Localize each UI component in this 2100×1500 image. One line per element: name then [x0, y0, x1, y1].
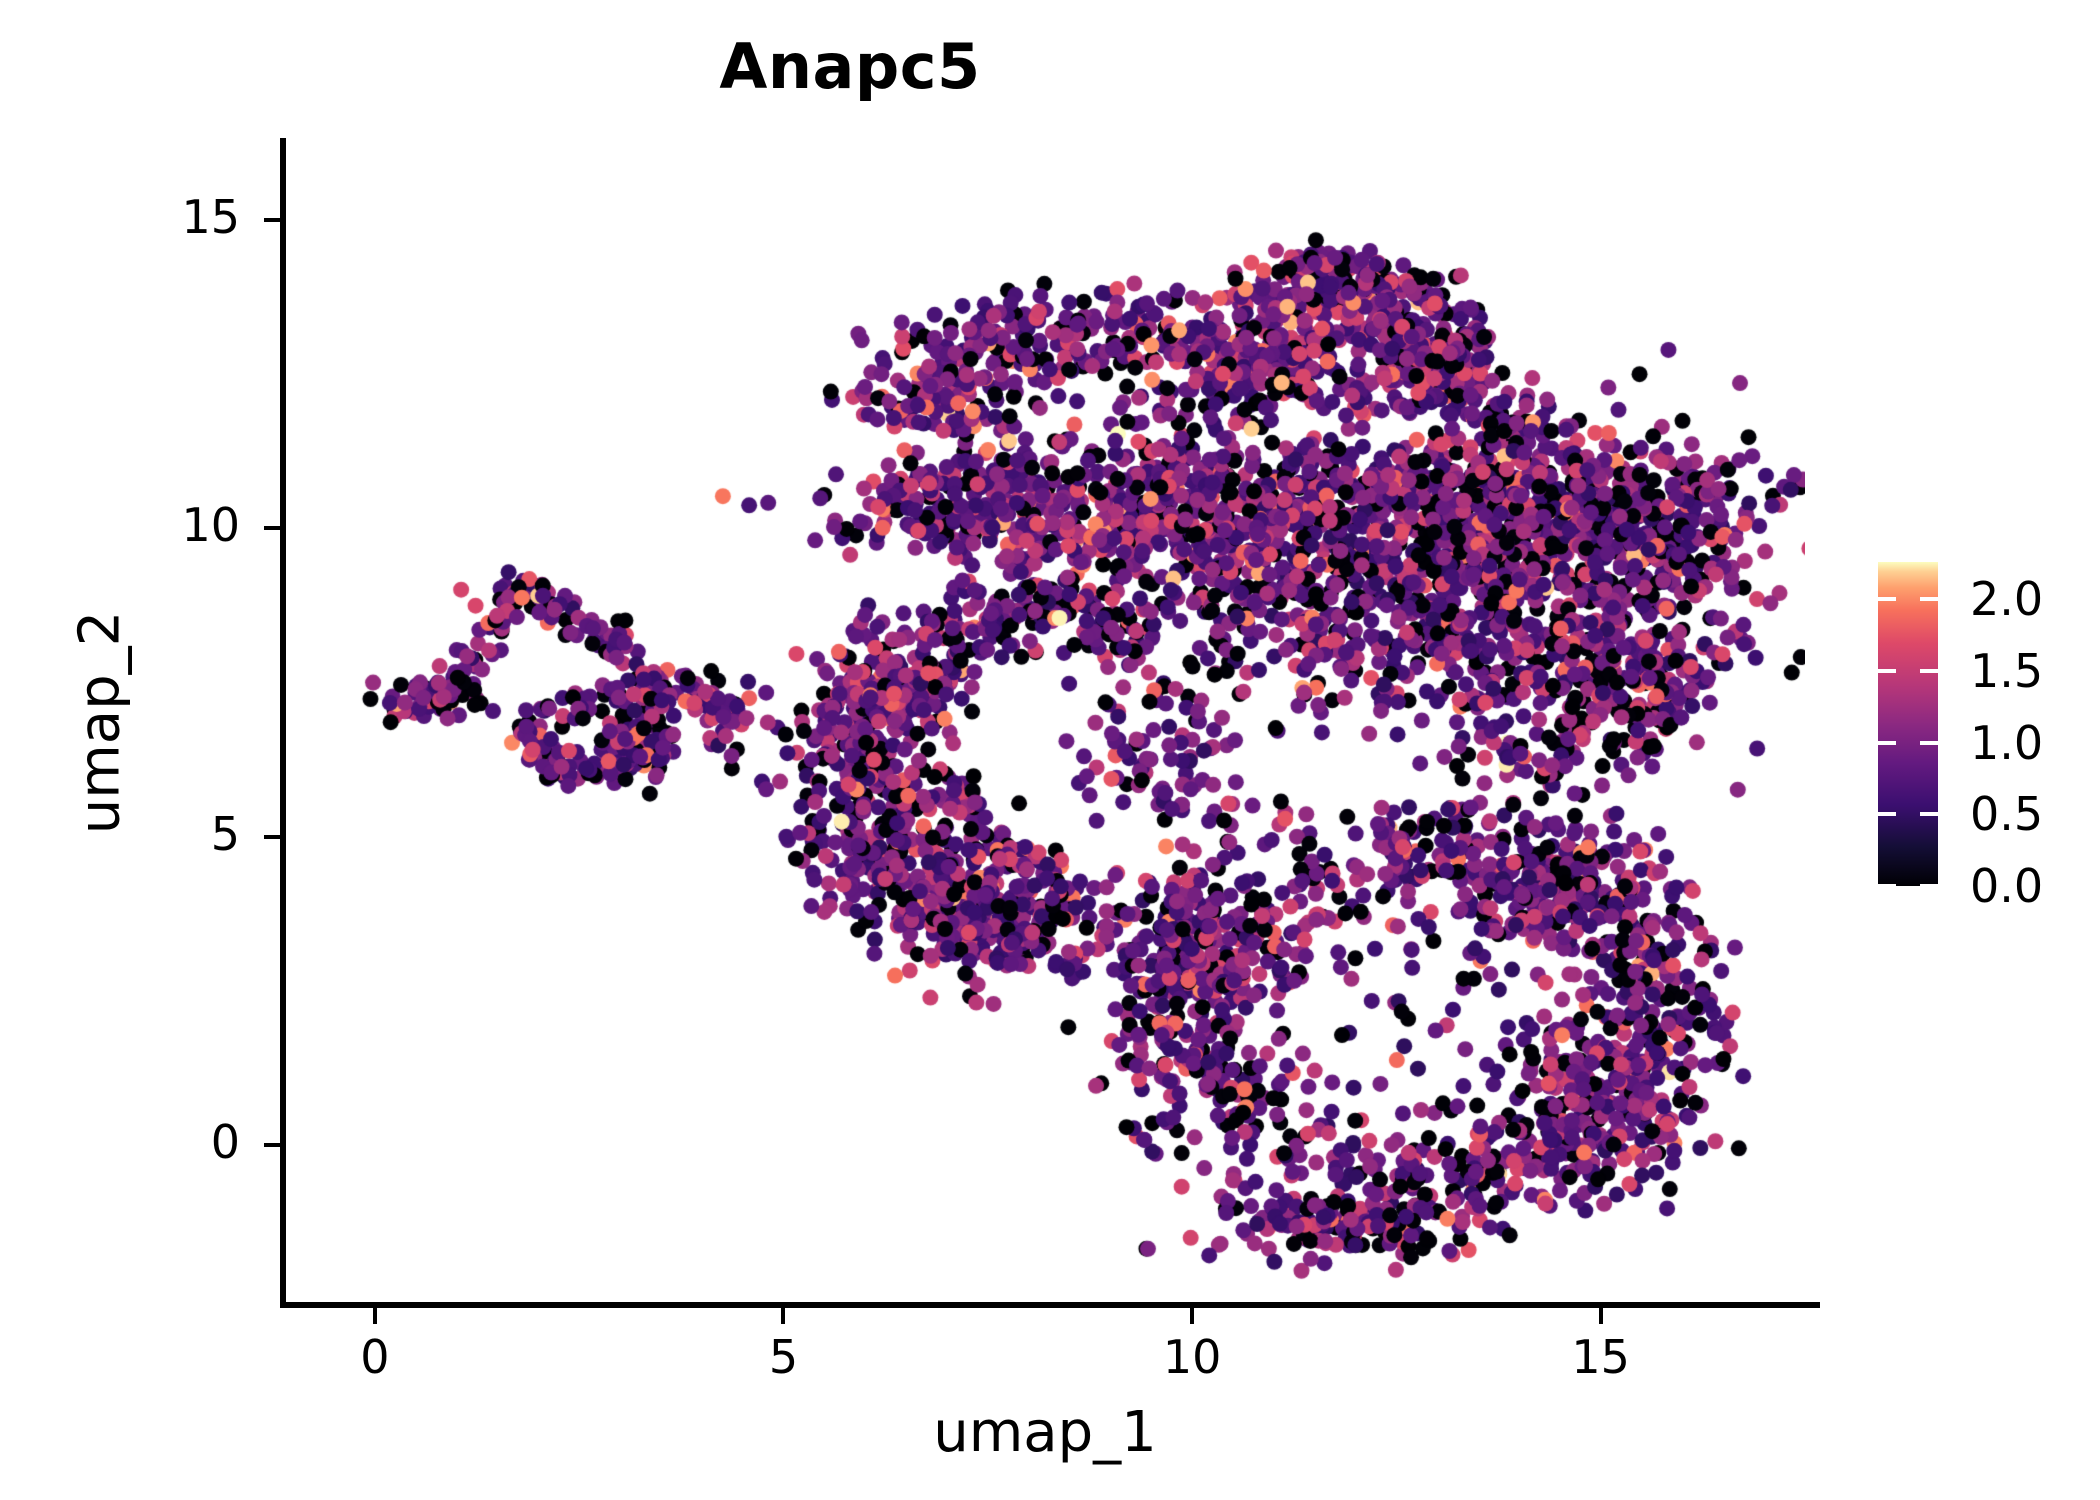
colorbar-tick-label: 1.5 [1970, 644, 2043, 698]
colorbar-tick-mark [1878, 669, 1896, 673]
y-axis-label: umap_2 [68, 323, 133, 1123]
figure-canvas: Anapc5 051015 051015 umap_1 umap_2 2.01.… [0, 0, 2100, 1500]
colorbar-tick-mark [1920, 741, 1938, 745]
y-tick-label: 15 [80, 190, 240, 244]
colorbar-tick-label: 0.0 [1970, 859, 2043, 913]
y-tick-label: 0 [80, 1115, 240, 1169]
page-title: Anapc5 [0, 30, 1700, 103]
plot-axes-area[interactable] [285, 140, 1805, 1305]
y-tick-mark [264, 1143, 280, 1147]
axis-spine-left [280, 138, 286, 1308]
y-tick-mark [264, 835, 280, 839]
x-tick-label: 15 [1521, 1330, 1681, 1384]
colorbar-tick-mark [1878, 741, 1896, 745]
colorbar-tick-label: 1.0 [1970, 716, 2043, 770]
colorbar-tick-mark [1920, 884, 1938, 888]
colorbar-tick-mark [1920, 669, 1938, 673]
y-tick-mark [264, 526, 280, 530]
x-tick-mark [1599, 1308, 1603, 1324]
x-tick-mark [373, 1308, 377, 1324]
colorbar-tick-mark [1878, 812, 1896, 816]
colorbar-tick-mark [1920, 597, 1938, 601]
colorbar-tick-label: 2.0 [1970, 572, 2043, 626]
axis-spine-bottom [280, 1302, 1820, 1308]
x-tick-label: 10 [1112, 1330, 1272, 1384]
colorbar-gradient [1878, 562, 1938, 886]
scatter-points-layer [285, 140, 1805, 1305]
x-tick-mark [1190, 1308, 1194, 1324]
colorbar-tick-mark [1878, 597, 1896, 601]
colorbar[interactable] [1878, 562, 1938, 886]
colorbar-tick-label: 0.5 [1970, 787, 2043, 841]
colorbar-tick-mark [1878, 884, 1896, 888]
x-tick-label: 5 [703, 1330, 863, 1384]
x-tick-label: 0 [295, 1330, 455, 1384]
x-axis-label: umap_1 [285, 1400, 1805, 1465]
scatter-clip [285, 140, 1805, 1305]
colorbar-tick-mark [1920, 812, 1938, 816]
y-tick-mark [264, 218, 280, 222]
x-tick-mark [781, 1308, 785, 1324]
